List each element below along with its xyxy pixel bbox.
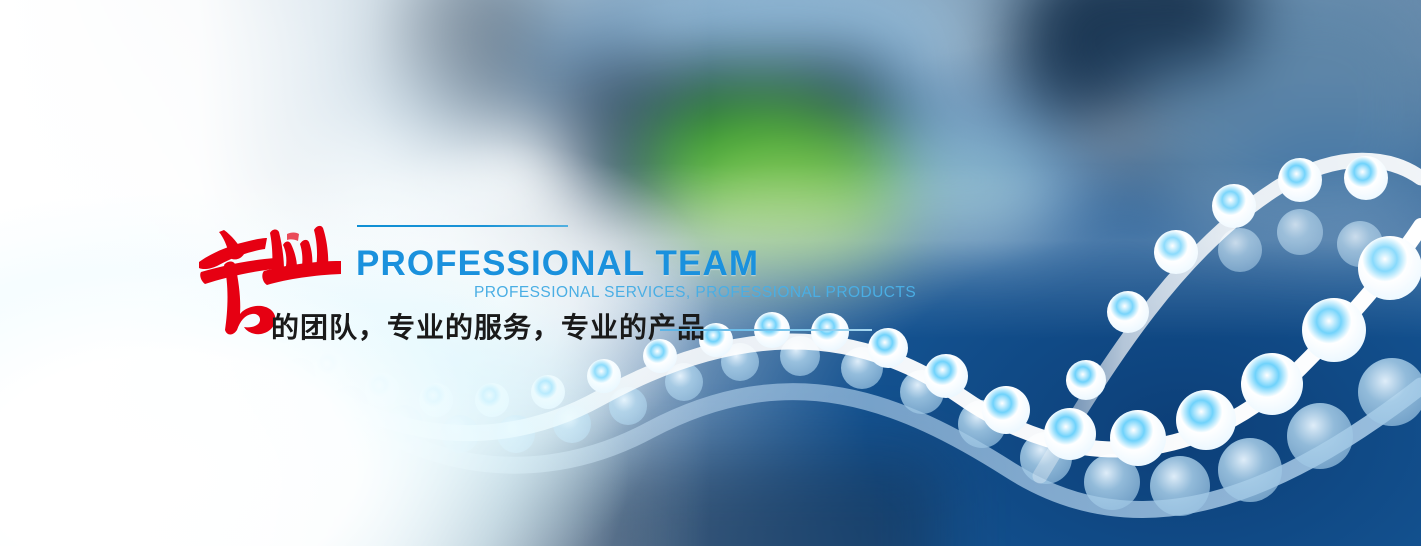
hero-text-block: PROFESSIONAL TEAM PROFESSIONAL SERVICES,… [0,0,1421,546]
headline-rule-bottom [660,329,872,331]
page-title: PROFESSIONAL TEAM [356,244,759,284]
headline-rule-top [357,225,568,227]
hero-banner: PROFESSIONAL TEAM PROFESSIONAL SERVICES,… [0,0,1421,546]
chinese-tagline: 的团队，专业的服务，专业的产品 [271,306,706,346]
page-subtitle: PROFESSIONAL SERVICES, PROFESSIONAL PROD… [474,284,916,302]
